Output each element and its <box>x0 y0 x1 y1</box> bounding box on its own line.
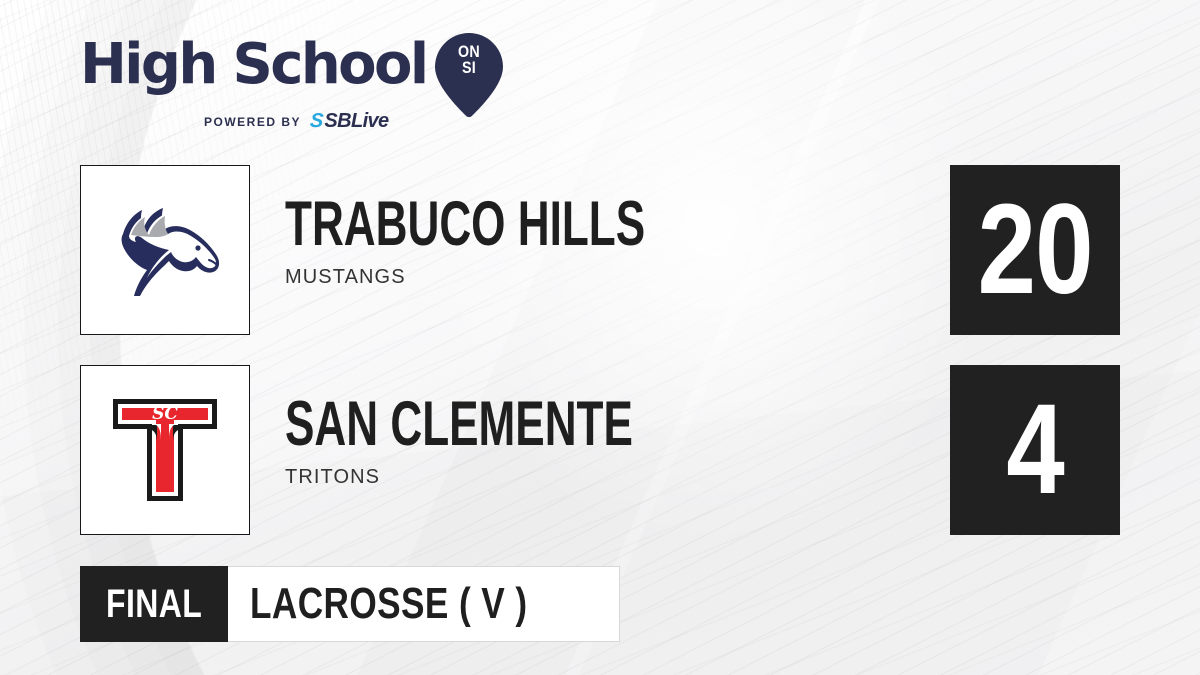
team-row[interactable]: SC SAN CLEMENTE TRITONS 4 <box>80 365 1120 535</box>
team-score: 20 <box>977 190 1092 310</box>
team-name: TRABUCO HILLS <box>285 191 775 257</box>
brand-lockup[interactable]: High School ON SI POWERED BY S SBLive <box>80 34 510 134</box>
brand-wordmark: High School <box>80 34 426 96</box>
team-name: SAN CLEMENTE <box>285 391 775 457</box>
status-badge: FINAL <box>80 566 228 642</box>
team-mascot: MUSTANGS <box>285 266 985 289</box>
team-logo-box[interactable]: SC <box>80 365 250 535</box>
sblive-wordmark-suffix: ive <box>363 110 389 132</box>
powered-by-label: POWERED BY <box>204 115 301 129</box>
game-status-bar: FINAL LACROSSE ( V ) <box>80 566 620 642</box>
sblive-wordmark-main: SBL <box>324 110 362 132</box>
team-score-box: 4 <box>950 365 1120 535</box>
powered-by-lockup: POWERED BY S SBLive <box>204 110 389 133</box>
location-pin-icon: ON SI <box>432 32 506 118</box>
sblive-wordmark: SBLive <box>324 110 388 133</box>
pin-label: ON SI <box>438 44 500 76</box>
san-clemente-tritons-logo: SC <box>109 395 221 505</box>
team-text-block: TRABUCO HILLS MUSTANGS <box>285 191 985 289</box>
pin-label-line2: SI <box>438 60 500 76</box>
sport-label: LACROSSE ( V ) <box>250 581 527 627</box>
trabuco-hills-mustangs-logo <box>105 204 225 296</box>
team-score: 4 <box>1006 390 1064 510</box>
team-mascot: TRITONS <box>285 466 985 489</box>
team-logo-box[interactable] <box>80 165 250 335</box>
sport-label-box: LACROSSE ( V ) <box>228 566 620 642</box>
sblive-s-mark: S <box>309 110 324 133</box>
scoreboard-graphic: High School ON SI POWERED BY S SBLive <box>0 0 1200 675</box>
svg-text:SC: SC <box>152 404 178 424</box>
sblive-logo[interactable]: S SBLive <box>310 110 389 133</box>
team-row[interactable]: TRABUCO HILLS MUSTANGS 20 <box>80 165 1120 335</box>
team-score-box: 20 <box>950 165 1120 335</box>
team-text-block: SAN CLEMENTE TRITONS <box>285 391 985 489</box>
status-badge-label: FINAL <box>106 583 202 625</box>
